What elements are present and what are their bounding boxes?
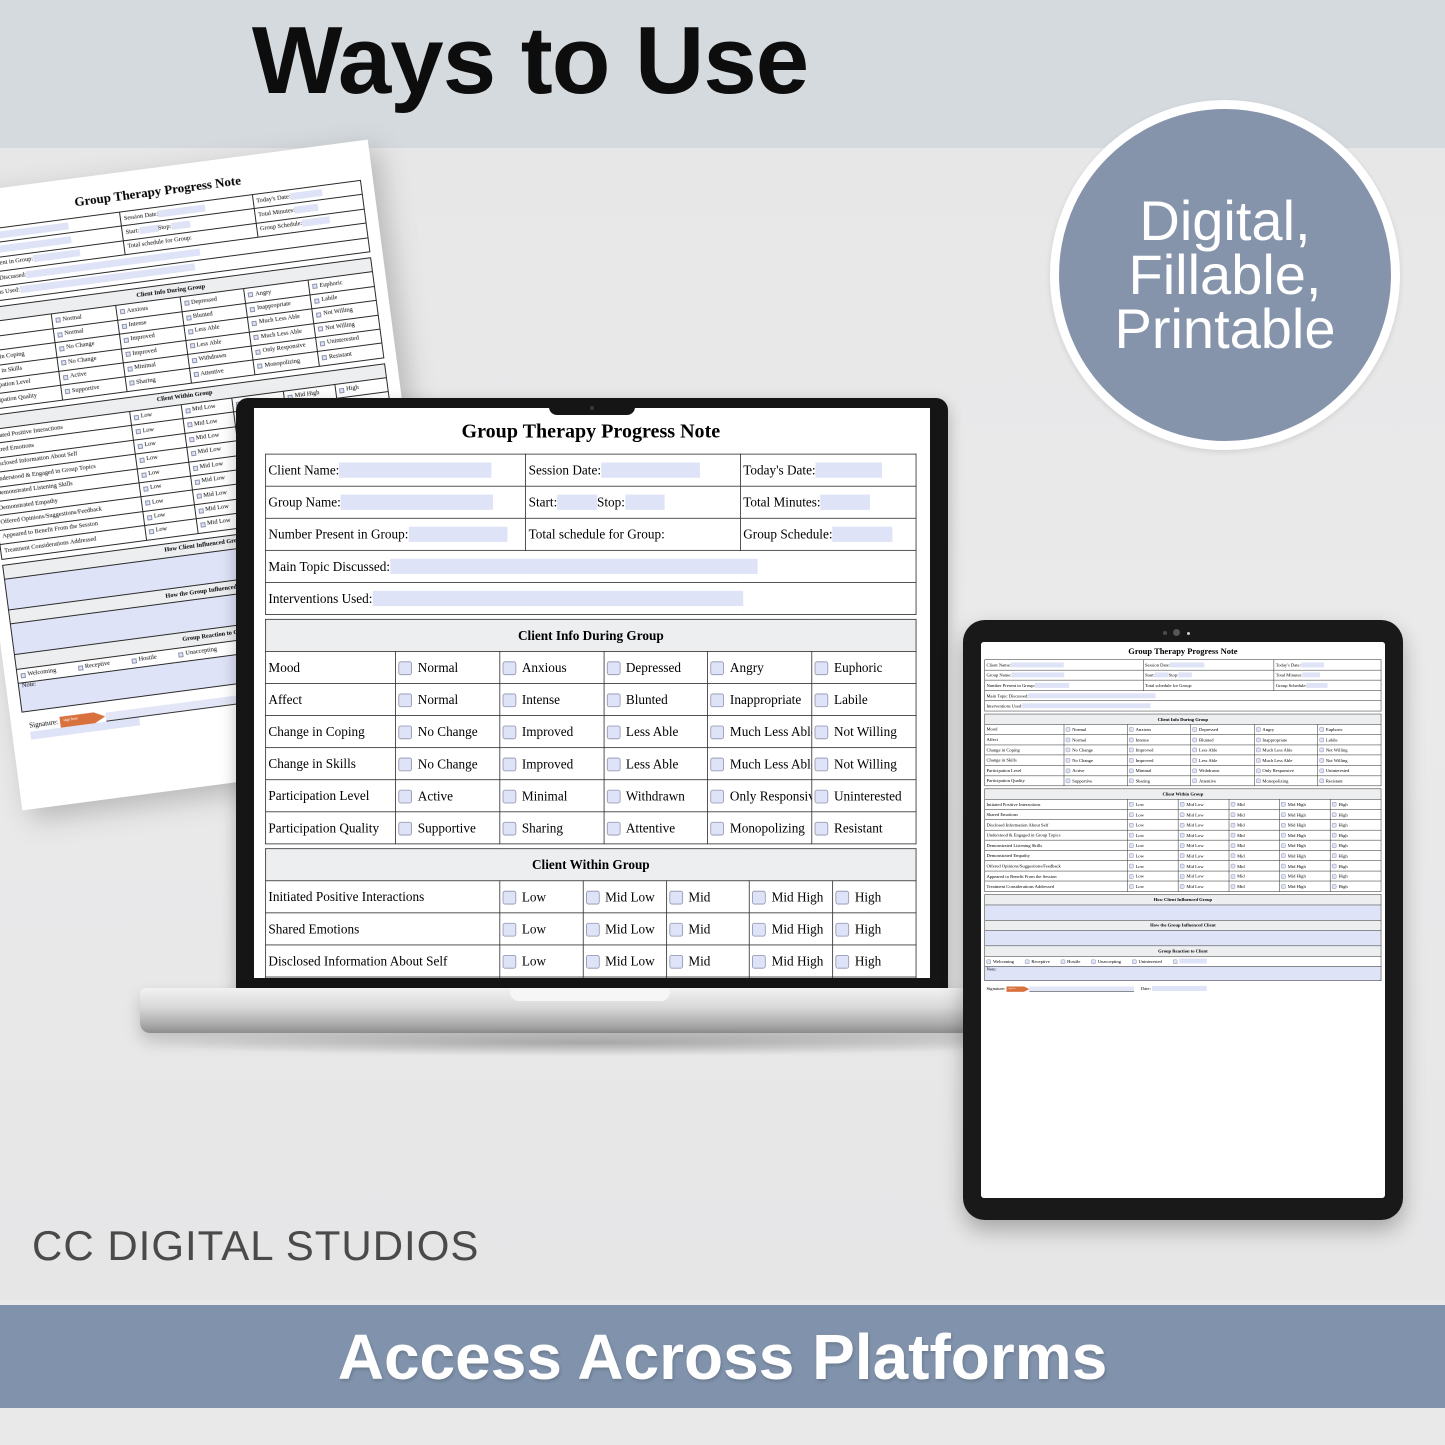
client-influenced-group-input[interactable] [985,905,1381,920]
scale-cell[interactable]: Mid Low [1178,861,1229,871]
scale-cell[interactable]: High [1330,830,1381,840]
opt-2-4-checkbox[interactable] [316,312,322,318]
option-cell[interactable]: Angry [708,651,812,683]
opt-5-4-checkbox[interactable] [815,822,829,836]
option-cell[interactable]: Supportive [1064,776,1127,786]
scale-cell[interactable]: High [833,881,916,913]
opt-1-0-checkbox[interactable] [57,332,63,338]
field-main-topic[interactable]: Main Topic Discussed: [266,550,916,582]
scale-cell[interactable]: Mid [1229,861,1280,871]
opt-1-1-checkbox[interactable] [121,323,127,329]
opt-3-0-checkbox[interactable] [399,757,413,771]
opt-5-1-checkbox[interactable] [129,380,135,386]
note-field[interactable]: Note: [985,966,1381,980]
scale-3-4-checkbox[interactable] [1332,833,1336,837]
reaction-4-checkbox[interactable] [1132,959,1136,963]
opt-5-1-checkbox[interactable] [1129,779,1133,783]
scale-2-3-checkbox[interactable] [1281,823,1285,827]
scale-cell[interactable]: Mid High [1280,840,1331,850]
option-cell[interactable]: Euphoric [1318,724,1381,734]
option-cell[interactable]: Active [1064,765,1127,775]
option-cell[interactable]: Much Less Able [1254,755,1317,765]
option-cell[interactable]: Uninterested [812,780,916,812]
scale-2-0-checkbox[interactable] [503,955,517,969]
option-cell[interactable]: Anxious [1127,724,1190,734]
opt-2-0-checkbox[interactable] [399,725,413,739]
opt-0-4-checkbox[interactable] [815,661,829,675]
field-client-name[interactable]: Client Name: [985,660,1144,670]
opt-4-3-checkbox[interactable] [256,349,262,355]
scale-cell[interactable]: Low [1127,830,1178,840]
opt-2-1-checkbox[interactable] [1129,748,1133,752]
reaction-option[interactable]: Unaccepting [1091,959,1121,964]
scale-7-3-checkbox[interactable] [1281,874,1285,878]
opt-0-2-checkbox[interactable] [184,301,190,307]
scale-5-3-checkbox[interactable] [1281,854,1285,858]
opt-3-2-checkbox[interactable] [189,343,195,349]
scale-cell[interactable]: Mid Low [1178,830,1229,840]
opt-3-1-checkbox[interactable] [503,757,517,771]
opt-4-2-checkbox[interactable] [607,789,621,803]
scale-cell[interactable]: Mid High [1280,861,1331,871]
scale-6-4-checkbox[interactable] [1332,864,1336,868]
opt-5-3-checkbox[interactable] [1256,779,1260,783]
opt-5-0-checkbox[interactable] [65,389,71,395]
opt-5-3-checkbox[interactable] [257,363,263,369]
opt-1-2-checkbox[interactable] [1193,738,1197,742]
opt-1-4-checkbox[interactable] [815,693,829,707]
option-cell[interactable]: Attentive [1191,776,1254,786]
scale-0-0-checkbox[interactable] [503,890,517,904]
scale-cell[interactable]: Mid High [750,881,833,913]
scale-6-3-checkbox[interactable] [1281,864,1285,868]
field-session-date[interactable]: Session Date: [1143,660,1274,670]
opt-2-2-checkbox[interactable] [1193,748,1197,752]
scale-cell[interactable]: Mid High [1280,799,1331,809]
option-cell[interactable]: Not Willing [812,748,916,780]
scale-4-1-checkbox[interactable] [1180,843,1184,847]
option-cell[interactable]: Withdrawn [604,780,708,812]
option-cell[interactable]: Resistant [1318,776,1381,786]
opt-3-4-checkbox[interactable] [1319,758,1323,762]
option-cell[interactable]: Less Able [1191,755,1254,765]
scale-cell[interactable]: Mid High [750,945,833,977]
opt-1-3-checkbox[interactable] [711,693,725,707]
option-cell[interactable]: Depressed [604,651,708,683]
scale-cell[interactable]: Mid [1229,799,1280,809]
date-input[interactable] [1152,986,1207,991]
option-cell[interactable]: Less Able [604,748,708,780]
scale-cell[interactable]: Mid Low [583,945,666,977]
opt-2-3-checkbox[interactable] [1256,748,1260,752]
scale-cell[interactable]: Mid High [1280,809,1331,819]
scale-cell[interactable]: Mid Low [1178,850,1229,860]
scale-cell[interactable]: Low [500,881,583,913]
scale-cell[interactable]: Mid High [1280,820,1331,830]
scale-1-0-checkbox[interactable] [503,923,517,937]
option-cell[interactable]: Inappropriate [1254,735,1317,745]
option-cell[interactable]: Labile [1318,735,1381,745]
scale-6-1-checkbox[interactable] [1180,864,1184,868]
scale-cell[interactable]: High [833,977,916,978]
scale-3-3-checkbox[interactable] [1281,833,1285,837]
option-cell[interactable]: Intense [1127,735,1190,745]
scale-cell[interactable]: High [1330,861,1381,871]
opt-0-0-checkbox[interactable] [55,317,61,323]
field-total-minutes[interactable]: Total Minutes: [740,486,916,518]
opt-4-3-checkbox[interactable] [711,789,725,803]
scale-1-1-checkbox[interactable] [586,923,600,937]
opt-0-3-checkbox[interactable] [248,292,254,298]
scale-3-1-checkbox[interactable] [1180,833,1184,837]
opt-3-3-checkbox[interactable] [254,335,260,341]
opt-5-4-checkbox[interactable] [322,355,328,361]
scale-cell[interactable]: Mid Low [1178,809,1229,819]
opt-5-3-checkbox[interactable] [711,822,725,836]
opt-4-2-checkbox[interactable] [1193,768,1197,772]
opt-3-4-checkbox[interactable] [318,326,324,332]
option-cell[interactable]: Less Able [1191,745,1254,755]
field-client-name[interactable]: Client Name: [266,454,526,486]
opt-5-0-checkbox[interactable] [399,822,413,836]
scale-cell[interactable]: Mid Low [1178,881,1229,891]
scale-cell[interactable]: Low [1127,820,1178,830]
opt-0-4-checkbox[interactable] [1319,727,1323,731]
scale-cell[interactable]: Mid [666,881,749,913]
option-cell[interactable]: Active [396,780,500,812]
scale-cell[interactable]: Mid Low [1178,871,1229,881]
group-influenced-client-input[interactable] [985,931,1381,946]
opt-5-1-checkbox[interactable] [503,822,517,836]
opt-2-1-checkbox[interactable] [123,338,129,344]
scale-1-3-checkbox[interactable] [752,923,766,937]
opt-4-3-checkbox[interactable] [1256,768,1260,772]
scale-8-4-checkbox[interactable] [1332,884,1336,888]
scale-cell[interactable]: Mid High [750,977,833,978]
option-cell[interactable]: Attentive [604,812,708,844]
opt-0-0-checkbox[interactable] [1066,727,1070,731]
field-start-stop[interactable]: Start: Stop: [1143,670,1274,680]
option-cell[interactable]: Not Willing [812,716,916,748]
scale-cell[interactable]: Mid [666,977,749,978]
field-group-schedule[interactable]: Group Schedule: [1274,680,1381,690]
option-cell[interactable]: No Change [396,748,500,780]
option-cell[interactable]: Monopolizing [708,812,812,844]
scale-cell[interactable]: Mid Low [583,913,666,945]
option-cell[interactable]: Sharing [500,812,604,844]
scale-8-1-checkbox[interactable] [1180,884,1184,888]
scale-2-3-checkbox[interactable] [752,955,766,969]
field-total-schedule[interactable]: Total schedule for Group: [526,518,741,550]
scale-8-3-checkbox[interactable] [1281,884,1285,888]
opt-2-2-checkbox[interactable] [188,329,194,335]
group-reaction-options[interactable]: WelcomingReceptiveHostileUnacceptingUnin… [985,956,1381,966]
scale-cell[interactable]: Mid Low [583,881,666,913]
scale-cell[interactable]: High [1330,871,1381,881]
field-total-minutes[interactable]: Total Minutes: [1274,670,1381,680]
scale-cell[interactable]: High [1330,850,1381,860]
opt-4-1-checkbox[interactable] [1129,768,1133,772]
option-cell[interactable]: Not Willing [1318,755,1381,765]
opt-2-3-checkbox[interactable] [711,725,725,739]
opt-1-0-checkbox[interactable] [1066,738,1070,742]
opt-5-2-checkbox[interactable] [193,372,199,378]
opt-5-4-checkbox[interactable] [1319,779,1323,783]
field-session-date[interactable]: Session Date: [526,454,741,486]
scale-cell[interactable]: Low [1127,881,1178,891]
scale-1-0-checkbox[interactable] [1129,813,1133,817]
scale-cell[interactable]: High [1330,881,1381,891]
scale-cell[interactable]: High [1330,809,1381,819]
scale-8-0-checkbox[interactable] [1129,884,1133,888]
opt-0-4-checkbox[interactable] [312,284,318,290]
field-start-stop[interactable]: Start: Stop: [526,486,741,518]
opt-1-0-checkbox[interactable] [399,693,413,707]
reaction-option[interactable]: Receptive [78,661,111,672]
option-cell[interactable]: Normal [1064,735,1127,745]
scale-7-1-checkbox[interactable] [1180,874,1184,878]
reaction-option[interactable]: Receptive [1025,959,1050,964]
opt-4-4-checkbox[interactable] [320,341,326,347]
scale-3-0-checkbox[interactable] [1129,833,1133,837]
option-cell[interactable]: Supportive [396,812,500,844]
scale-cell[interactable]: Mid [666,945,749,977]
opt-3-1-checkbox[interactable] [125,352,131,358]
opt-4-0-checkbox[interactable] [399,789,413,803]
scale-cell[interactable]: Mid Low [1178,840,1229,850]
scale-cell[interactable]: High [833,913,916,945]
opt-0-2-checkbox[interactable] [607,661,621,675]
scale-1-4-checkbox[interactable] [836,923,850,937]
opt-3-4-checkbox[interactable] [815,757,829,771]
opt-5-2-checkbox[interactable] [607,822,621,836]
opt-2-0-checkbox[interactable] [59,346,65,352]
scale-7-4-checkbox[interactable] [1332,874,1336,878]
option-cell[interactable]: Minimal [1127,765,1190,775]
scale-0-3-checkbox[interactable] [1281,802,1285,806]
scale-0-4-checkbox[interactable] [836,890,850,904]
scale-2-2-checkbox[interactable] [669,955,683,969]
field-todays-date[interactable]: Today's Date: [1274,660,1381,670]
option-cell[interactable]: Euphoric [812,651,916,683]
opt-3-2-checkbox[interactable] [1193,758,1197,762]
scale-cell[interactable]: Low [1127,861,1178,871]
option-cell[interactable]: Blunted [1191,735,1254,745]
scale-5-0-checkbox[interactable] [1129,854,1133,858]
opt-3-0-checkbox[interactable] [1066,758,1070,762]
opt-3-0-checkbox[interactable] [61,360,67,366]
option-cell[interactable]: Normal [396,651,500,683]
field-number-present[interactable]: Number Present in Group: [266,518,526,550]
option-cell[interactable]: Angry [1254,724,1317,734]
scale-2-1-checkbox[interactable] [1180,823,1184,827]
option-cell[interactable]: Resistant [812,812,916,844]
reaction-0-checkbox[interactable] [20,672,26,678]
reaction-3-checkbox[interactable] [1091,959,1095,963]
scale-cell[interactable]: Mid [1229,881,1280,891]
option-cell[interactable]: Intense [500,683,604,715]
opt-0-3-checkbox[interactable] [711,661,725,675]
opt-3-3-checkbox[interactable] [711,757,725,771]
reaction-2-checkbox[interactable] [1061,959,1065,963]
scale-4-0-checkbox[interactable] [1129,843,1133,847]
scale-cell[interactable]: High [833,945,916,977]
scale-cell[interactable]: High [1330,799,1381,809]
signature-input[interactable] [1029,986,1134,991]
scale-0-4-checkbox[interactable] [339,388,345,394]
scale-cell[interactable]: Mid High [750,913,833,945]
opt-4-1-checkbox[interactable] [127,366,133,372]
option-cell[interactable]: Much Less Able [1254,745,1317,755]
scale-0-3-checkbox[interactable] [752,890,766,904]
opt-4-1-checkbox[interactable] [503,789,517,803]
opt-0-1-checkbox[interactable] [503,661,517,675]
scale-cell[interactable]: Mid [1229,820,1280,830]
opt-1-2-checkbox[interactable] [607,693,621,707]
field-interventions[interactable]: Interventions Used: [266,582,916,614]
scale-1-4-checkbox[interactable] [1332,813,1336,817]
scale-0-0-checkbox[interactable] [134,415,140,421]
reaction-option[interactable]: Uninterested [1132,959,1162,964]
opt-2-4-checkbox[interactable] [815,725,829,739]
opt-3-1-checkbox[interactable] [1129,758,1133,762]
scale-cell[interactable]: Low [1127,850,1178,860]
option-cell[interactable]: Minimal [500,780,604,812]
scale-cell[interactable]: Mid Low [583,977,666,978]
scale-cell[interactable]: Low [1127,809,1178,819]
scale-cell[interactable]: Mid High [1280,871,1331,881]
scale-2-2-checkbox[interactable] [1231,823,1235,827]
opt-0-1-checkbox[interactable] [1129,727,1133,731]
opt-0-2-checkbox[interactable] [1193,727,1197,731]
scale-2-4-checkbox[interactable] [1332,823,1336,827]
option-cell[interactable]: Blunted [604,683,708,715]
option-cell[interactable]: Normal [1064,724,1127,734]
scale-cell[interactable]: Mid High [1280,850,1331,860]
option-cell[interactable]: Anxious [500,651,604,683]
option-cell[interactable]: Withdrawn [1191,765,1254,775]
scale-cell[interactable]: Low [1127,871,1178,881]
scale-7-2-checkbox[interactable] [1231,874,1235,878]
field-group-name[interactable]: Group Name: [985,670,1144,680]
scale-cell[interactable]: Low [500,945,583,977]
opt-5-0-checkbox[interactable] [1066,779,1070,783]
opt-4-4-checkbox[interactable] [1319,768,1323,772]
opt-4-0-checkbox[interactable] [63,375,69,381]
scale-1-1-checkbox[interactable] [1180,813,1184,817]
scale-6-2-checkbox[interactable] [1231,864,1235,868]
scale-2-4-checkbox[interactable] [836,955,850,969]
scale-7-0-checkbox[interactable] [1129,874,1133,878]
scale-0-4-checkbox[interactable] [1332,802,1336,806]
opt-4-2-checkbox[interactable] [191,358,197,364]
scale-5-2-checkbox[interactable] [1231,854,1235,858]
reaction-option[interactable]: Welcoming [986,959,1013,964]
opt-0-0-checkbox[interactable] [399,661,413,675]
scale-cell[interactable]: Mid [1229,871,1280,881]
option-cell[interactable]: Uninterested [1318,765,1381,775]
option-cell[interactable]: Sharing [1127,776,1190,786]
reaction-2-checkbox[interactable] [131,658,137,664]
scale-2-1-checkbox[interactable] [586,955,600,969]
scale-cell[interactable]: Low [500,913,583,945]
opt-1-2-checkbox[interactable] [186,315,192,321]
opt-2-4-checkbox[interactable] [1319,748,1323,752]
scale-0-0-checkbox[interactable] [1129,802,1133,806]
scale-cell[interactable]: Low [1127,840,1178,850]
scale-0-1-checkbox[interactable] [586,890,600,904]
field-number-present[interactable]: Number Present in Group: [985,680,1144,690]
opt-2-1-checkbox[interactable] [503,725,517,739]
opt-2-2-checkbox[interactable] [607,725,621,739]
scale-2-0-checkbox[interactable] [1129,823,1133,827]
scale-0-2-checkbox[interactable] [669,890,683,904]
scale-cell[interactable]: Low [1127,799,1178,809]
scale-cell[interactable]: Mid Low [1178,820,1229,830]
field-group-schedule[interactable]: Group Schedule: [740,518,916,550]
option-cell[interactable]: Much Less Able [708,716,812,748]
scale-4-2-checkbox[interactable] [1231,843,1235,847]
option-cell[interactable]: Depressed [1191,724,1254,734]
scale-8-2-checkbox[interactable] [1231,884,1235,888]
field-interventions[interactable]: Interventions Used: [985,701,1381,711]
opt-1-3-checkbox[interactable] [1256,738,1260,742]
scale-0-2-checkbox[interactable] [1231,802,1235,806]
reaction-1-checkbox[interactable] [78,665,84,671]
option-cell[interactable]: Improved [500,716,604,748]
opt-1-4-checkbox[interactable] [1319,738,1323,742]
opt-0-3-checkbox[interactable] [1256,727,1260,731]
field-main-topic[interactable]: Main Topic Discussed: [985,690,1381,700]
opt-3-3-checkbox[interactable] [1256,758,1260,762]
opt-3-2-checkbox[interactable] [607,757,621,771]
option-cell[interactable]: Only Responsive [708,780,812,812]
reaction-other-checkbox[interactable] [1173,959,1177,963]
scale-1-2-checkbox[interactable] [669,923,683,937]
opt-1-4-checkbox[interactable] [314,298,320,304]
opt-1-3-checkbox[interactable] [250,306,256,312]
scale-cell[interactable]: Mid [1229,830,1280,840]
option-cell[interactable]: No Change [1064,745,1127,755]
field-todays-date[interactable]: Today's Date: [740,454,916,486]
opt-1-1-checkbox[interactable] [1129,738,1133,742]
scale-cell[interactable]: Mid [1229,809,1280,819]
reaction-option[interactable]: Welcoming [20,668,56,680]
scale-cell[interactable]: Low [500,977,583,978]
scale-cell[interactable]: Mid [1229,850,1280,860]
scale-cell[interactable]: Mid High [1280,881,1331,891]
reaction-option[interactable]: Hostile [1061,959,1081,964]
reaction-1-checkbox[interactable] [1025,959,1029,963]
option-cell[interactable]: Much Less Able [708,748,812,780]
field-group-name[interactable]: Group Name: [266,486,526,518]
option-cell[interactable]: Less Able [604,716,708,748]
option-cell[interactable]: Inappropriate [708,683,812,715]
scale-cell[interactable]: Mid [1229,840,1280,850]
scale-3-2-checkbox[interactable] [1231,833,1235,837]
scale-0-1-checkbox[interactable] [1180,802,1184,806]
option-cell[interactable]: No Change [396,716,500,748]
scale-cell[interactable]: High [1330,820,1381,830]
opt-1-1-checkbox[interactable] [503,693,517,707]
scale-5-4-checkbox[interactable] [1332,854,1336,858]
option-cell[interactable]: Only Responsive [1254,765,1317,775]
option-cell[interactable]: Not Willing [1318,745,1381,755]
opt-2-0-checkbox[interactable] [1066,748,1070,752]
scale-cell[interactable]: Mid High [1280,830,1331,840]
option-cell[interactable]: Improved [1127,745,1190,755]
scale-cell[interactable]: Mid Low [1178,799,1229,809]
